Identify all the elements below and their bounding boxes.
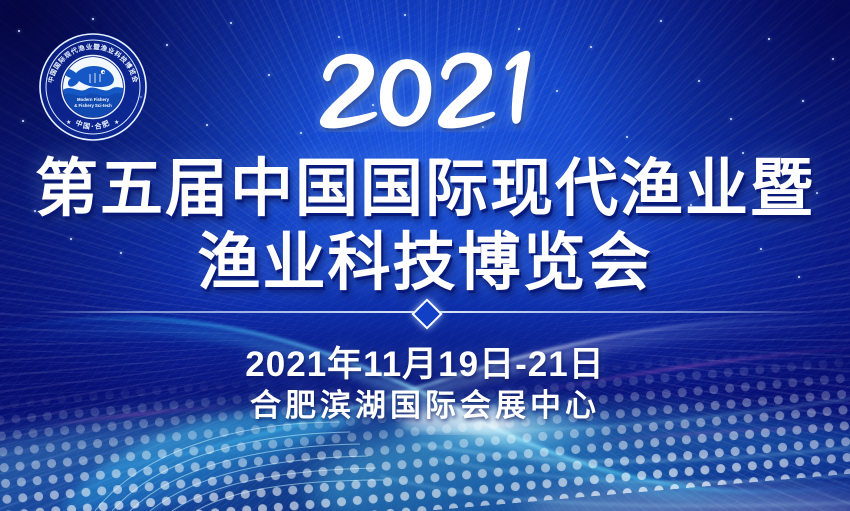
main-title-line-2: 渔业科技博览会 [0,226,850,298]
event-venue: 合肥滨湖国际会展中心 [0,380,850,425]
main-title-line-1: 第五届中国国际现代渔业暨 [0,152,850,224]
event-banner: Modern Fishery & Fishery Sci-tech 中国国际现代… [0,0,850,511]
year-brush-lettering [0,46,850,138]
